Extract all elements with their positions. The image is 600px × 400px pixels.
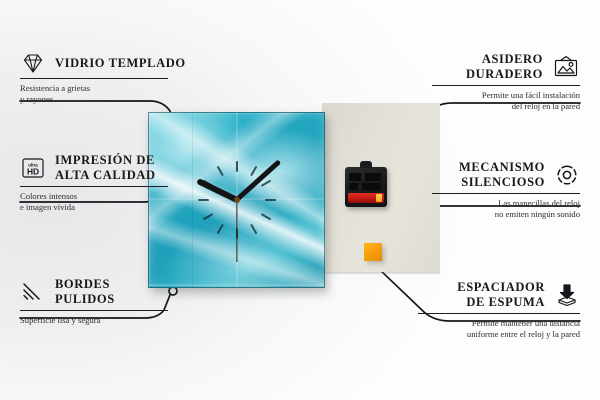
connector-dot-left-3 xyxy=(169,287,177,295)
feature-description: Las manecillas del reloj no emiten ningú… xyxy=(432,198,580,219)
foam-spacer xyxy=(364,243,382,261)
svg-text:HD: HD xyxy=(27,166,39,176)
feature-description: Resistencia a grietas y rayones xyxy=(20,83,168,104)
feature-title: BORDES PULIDOS xyxy=(55,277,115,306)
feature-description: Superficie lisa y segura xyxy=(20,315,168,326)
feature-header: ASIDERO DURADERO xyxy=(432,52,580,81)
feature-rule xyxy=(418,313,580,314)
feature-mecanismo-silencioso: MECANISMO SILENCIOSO Las manecillas del … xyxy=(432,160,580,219)
feature-title: ASIDERO DURADERO xyxy=(466,52,543,81)
feature-rule xyxy=(20,186,168,187)
wall-hanger-icon xyxy=(552,55,580,79)
foam-spacer-icon xyxy=(554,283,580,307)
feature-rule xyxy=(432,85,580,86)
feature-rule xyxy=(20,310,168,311)
feature-title: IMPRESIÓN DE ALTA CALIDAD xyxy=(55,153,156,182)
feature-espaciador-espuma: ESPACIADOR DE ESPUMA Permite mantener un… xyxy=(418,280,580,339)
mechanism-battery xyxy=(348,193,384,203)
diamond-icon xyxy=(20,52,46,74)
feature-title: VIDRIO TEMPLADO xyxy=(55,56,186,71)
feature-vidrio-templado: VIDRIO TEMPLADO Resistencia a grietas y … xyxy=(20,52,168,104)
feature-title: ESPACIADOR DE ESPUMA xyxy=(457,280,545,309)
feature-header: ultra HD IMPRESIÓN DE ALTA CALIDAD xyxy=(20,153,168,182)
product-wall-clock xyxy=(148,112,325,288)
feature-description: Permite una fácil instalación del reloj … xyxy=(432,90,580,111)
mechanism-slot xyxy=(365,173,381,181)
feature-description: Permite mantener una distancia uniforme … xyxy=(418,318,580,339)
feature-rule xyxy=(432,193,580,194)
feature-rule xyxy=(20,78,168,79)
feature-header: BORDES PULIDOS xyxy=(20,277,168,306)
feature-title: MECANISMO SILENCIOSO xyxy=(459,160,545,189)
feature-header: VIDRIO TEMPLADO xyxy=(20,52,168,74)
feature-description: Colores intensos e imagen vívida xyxy=(20,191,168,212)
glass-edge xyxy=(148,112,325,288)
ultra-hd-icon: ultra HD xyxy=(20,156,46,180)
mechanism-shaft xyxy=(360,161,372,168)
feature-asidero-duradero: ASIDERO DURADERO Permite una fácil insta… xyxy=(432,52,580,111)
gear-icon xyxy=(554,163,580,187)
clock-mechanism xyxy=(345,167,387,207)
infographic-canvas: VIDRIO TEMPLADO Resistencia a grietas y … xyxy=(0,0,600,400)
feature-header: MECANISMO SILENCIOSO xyxy=(432,160,580,189)
mechanism-slot xyxy=(349,183,358,190)
feature-bordes-pulidos: BORDES PULIDOS Superficie lisa y segura xyxy=(20,277,168,326)
mechanism-slot xyxy=(362,183,381,190)
mechanism-slot xyxy=(349,173,361,181)
feature-header: ESPACIADOR DE ESPUMA xyxy=(418,280,580,309)
feature-impresion-alta-calidad: ultra HD IMPRESIÓN DE ALTA CALIDAD Color… xyxy=(20,153,168,212)
polished-edges-icon xyxy=(20,281,46,303)
